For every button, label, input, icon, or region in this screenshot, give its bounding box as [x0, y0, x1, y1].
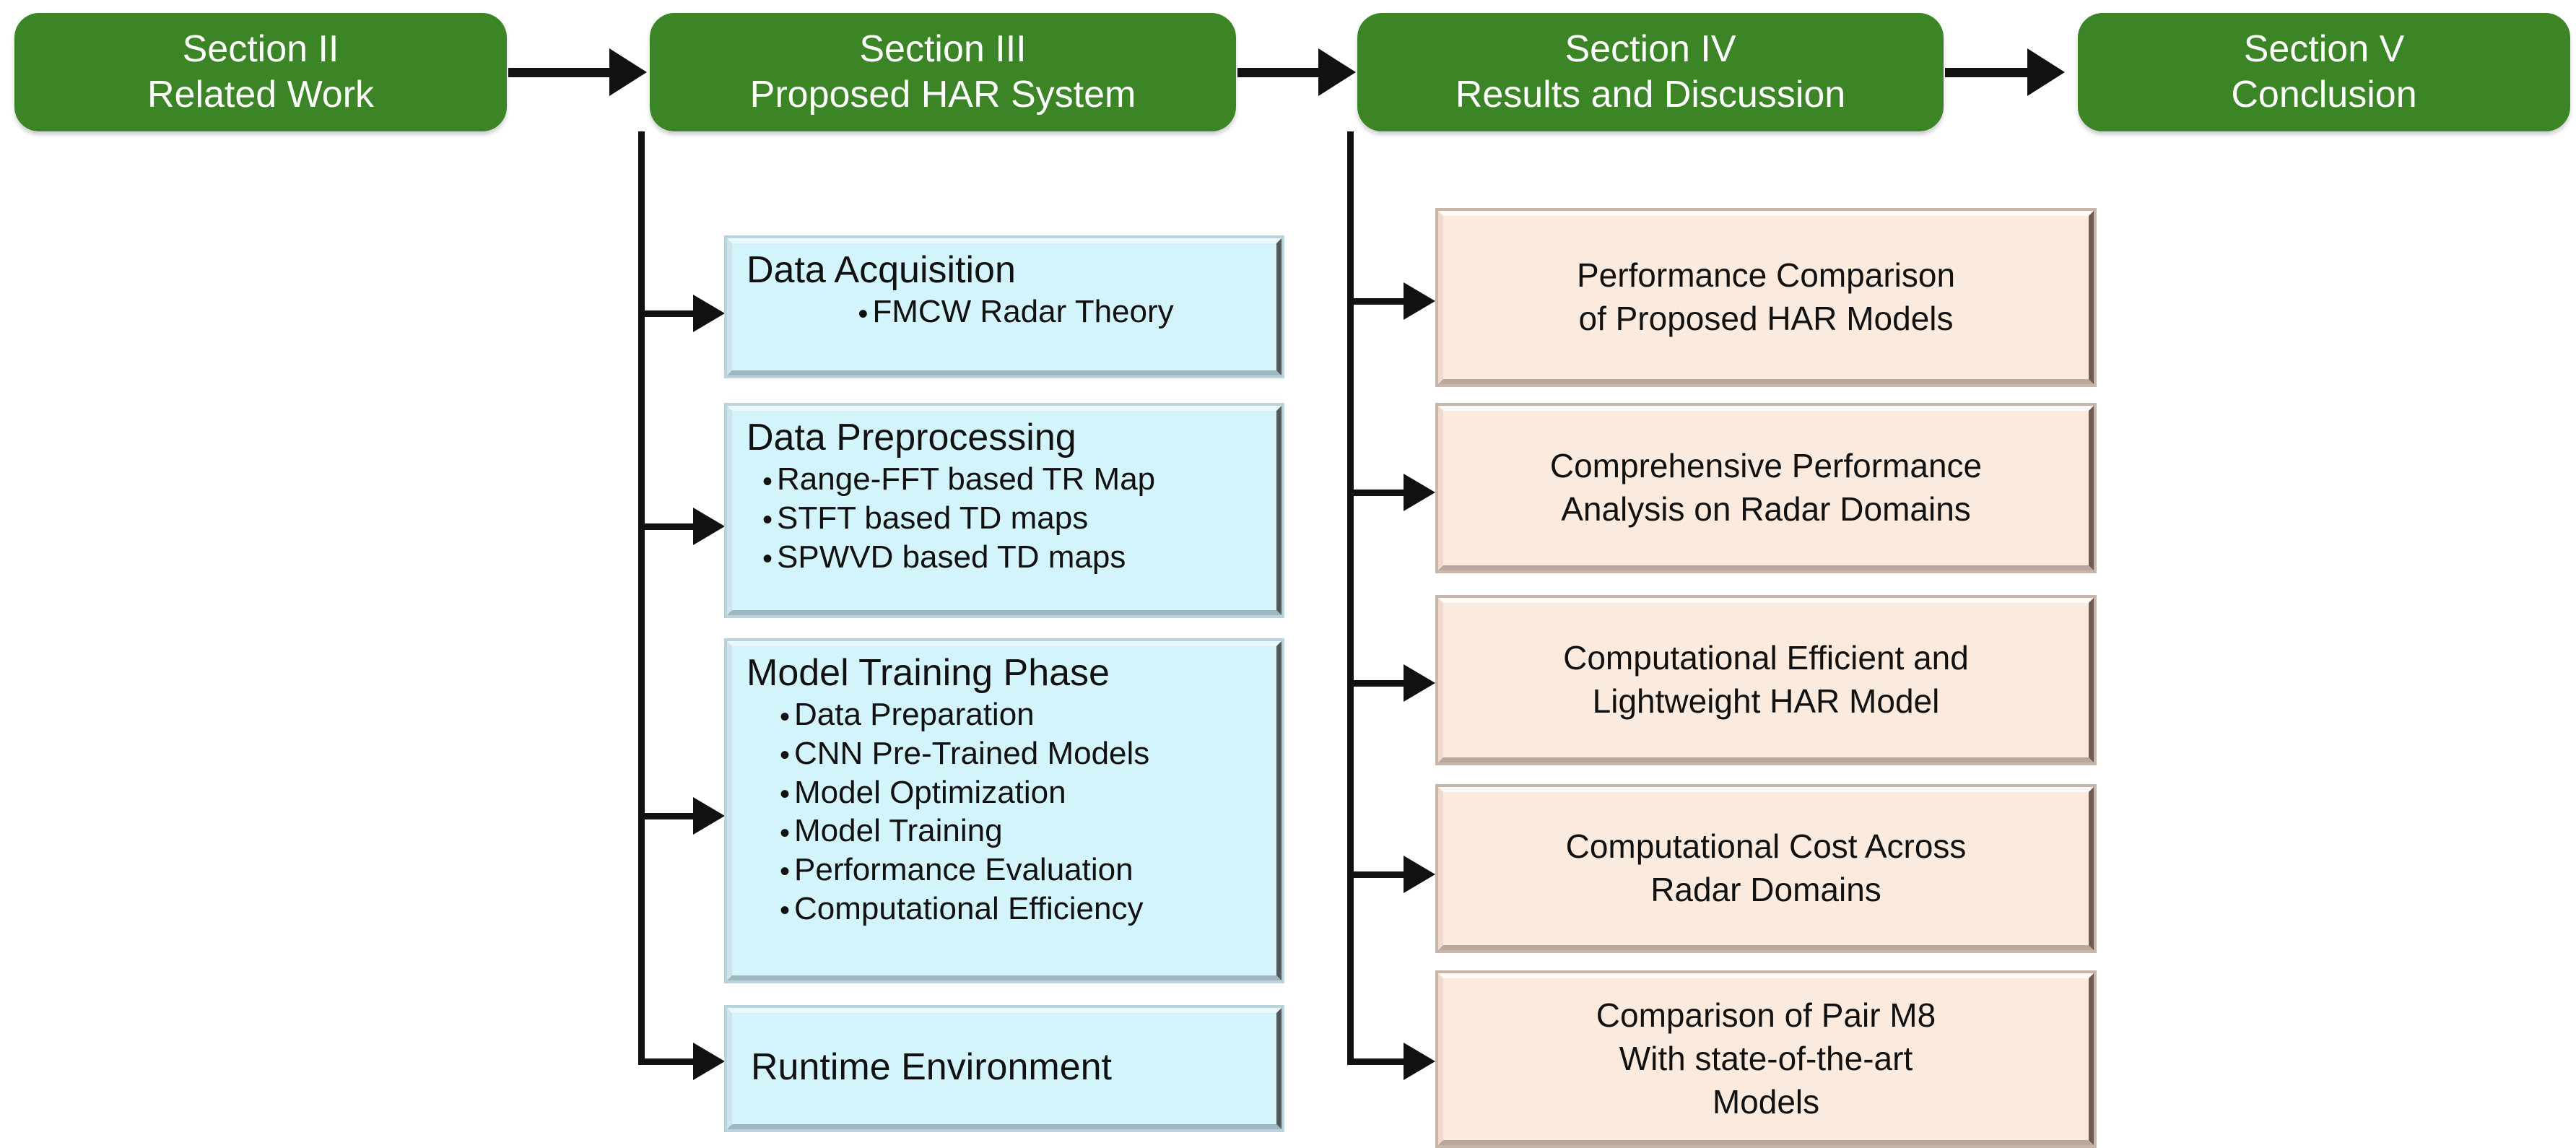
section-box-line2: Conclusion — [2231, 72, 2416, 118]
detail-box-data-acquisition[interactable]: Data Acquisition •FMCW Radar Theory — [727, 238, 1282, 375]
result-box-computational-cost[interactable]: Computational Cost Across Radar Domains — [1438, 787, 2094, 950]
result-box-line1: Computational Efficient and — [1563, 637, 1969, 680]
section-box-line1: Section IV — [1565, 27, 1736, 72]
list-item: •Performance Evaluation — [775, 851, 1276, 890]
detail-box-title: Runtime Environment — [732, 1046, 1112, 1088]
list-item: •FMCW Radar Theory — [751, 292, 1276, 331]
trunk-line-results — [1347, 131, 1354, 1063]
branch-arrow-computational-efficient-model — [1404, 664, 1435, 702]
list-item-label: CNN Pre-Trained Models — [794, 736, 1149, 771]
list-item-label: STFT based TD maps — [777, 500, 1088, 536]
detail-box-item-list: •Data Preparation •CNN Pre-Trained Model… — [732, 695, 1276, 928]
list-item: •SPWVD based TD maps — [758, 538, 1276, 577]
list-item: •Computational Efficiency — [775, 890, 1276, 929]
list-item-label: Computational Efficiency — [794, 891, 1143, 926]
section-box-line1: Section V — [2244, 27, 2405, 72]
result-box-computational-efficient-model[interactable]: Computational Efficient and Lightweight … — [1438, 598, 2094, 762]
arrow-section3-to-section4-head — [1318, 48, 1356, 96]
bullet-icon: • — [775, 703, 794, 731]
section-box-line2: Results and Discussion — [1455, 72, 1845, 118]
branch-arrow-comprehensive-analysis — [1404, 474, 1435, 511]
result-box-line2: Lightweight HAR Model — [1593, 680, 1940, 723]
list-item: •CNN Pre-Trained Models — [775, 734, 1276, 773]
bullet-icon: • — [775, 896, 794, 925]
bullet-icon: • — [853, 300, 872, 329]
section-box-results-and-discussion[interactable]: Section IV Results and Discussion — [1357, 13, 1944, 131]
section-box-related-work[interactable]: Section II Related Work — [14, 13, 507, 131]
section-box-line1: Section III — [859, 27, 1026, 72]
arrow-section2-to-section3-shaft — [508, 68, 617, 77]
list-item-label: Model Training — [794, 813, 1003, 848]
arrow-section4-to-section5-shaft — [1945, 68, 2040, 77]
result-box-line2: Radar Domains — [1650, 869, 1881, 912]
detail-box-title: Data Preprocessing — [732, 417, 1276, 458]
section-box-line2: Proposed HAR System — [750, 72, 1136, 118]
section-box-proposed-har-system[interactable]: Section III Proposed HAR System — [650, 13, 1236, 131]
branch-arrow-performance-comparison — [1404, 282, 1435, 320]
branch-arrow-pair-m8-comparison — [1404, 1043, 1435, 1080]
detail-box-model-training-phase[interactable]: Model Training Phase •Data Preparation •… — [727, 641, 1282, 980]
result-box-line1: Comprehensive Performance — [1550, 445, 1982, 488]
list-item: •Model Optimization — [775, 773, 1276, 812]
result-box-comprehensive-analysis[interactable]: Comprehensive Performance Analysis on Ra… — [1438, 406, 2094, 570]
list-item-label: Data Preparation — [794, 697, 1035, 732]
section-box-conclusion[interactable]: Section V Conclusion — [2078, 13, 2570, 131]
trunk-line-proposed-system — [638, 131, 645, 1063]
bullet-icon: • — [758, 467, 777, 496]
branch-arrow-model-training-phase — [693, 797, 725, 835]
bullet-icon: • — [775, 741, 794, 770]
branch-arrow-runtime-environment — [693, 1043, 725, 1080]
arrow-section4-to-section5-head — [2027, 48, 2065, 96]
section-box-line1: Section II — [183, 27, 339, 72]
list-item-label: Range-FFT based TR Map — [777, 461, 1155, 497]
bullet-icon: • — [775, 819, 794, 848]
list-item: •Data Preparation — [775, 695, 1276, 734]
arrow-section2-to-section3-head — [609, 48, 647, 96]
arrow-section3-to-section4-shaft — [1237, 68, 1331, 77]
result-box-performance-comparison[interactable]: Performance Comparison of Proposed HAR M… — [1438, 211, 2094, 384]
list-item-label: FMCW Radar Theory — [872, 294, 1173, 329]
result-box-line2: With state-of-the-art — [1619, 1038, 1913, 1081]
list-item: •Range-FFT based TR Map — [758, 460, 1276, 499]
branch-arrow-data-acquisition — [693, 295, 725, 332]
result-box-line1: Performance Comparison — [1577, 254, 1955, 297]
result-box-line2: of Proposed HAR Models — [1578, 297, 1953, 341]
list-item-label: Performance Evaluation — [794, 852, 1133, 887]
detail-box-item-list: •Range-FFT based TR Map •STFT based TD m… — [732, 460, 1276, 576]
detail-box-runtime-environment[interactable]: Runtime Environment — [727, 1008, 1282, 1129]
detail-box-title: Data Acquisition — [732, 249, 1276, 291]
list-item: •STFT based TD maps — [758, 499, 1276, 538]
detail-box-item-list: •FMCW Radar Theory — [732, 292, 1276, 331]
bullet-icon: • — [775, 780, 794, 809]
result-box-line2: Analysis on Radar Domains — [1561, 488, 1971, 531]
section-box-line2: Related Work — [147, 72, 374, 118]
detail-box-data-preprocessing[interactable]: Data Preprocessing •Range-FFT based TR M… — [727, 406, 1282, 615]
result-box-pair-m8-comparison[interactable]: Comparison of Pair M8 With state-of-the-… — [1438, 973, 2094, 1145]
result-box-line1: Comparison of Pair M8 — [1596, 994, 1936, 1038]
list-item: •Model Training — [775, 812, 1276, 851]
list-item-label: SPWVD based TD maps — [777, 539, 1126, 575]
result-box-line1: Computational Cost Across — [1566, 825, 1967, 869]
result-box-line3: Models — [1713, 1081, 1819, 1124]
list-item-label: Model Optimization — [794, 775, 1066, 810]
branch-arrow-data-preprocessing — [693, 508, 725, 545]
bullet-icon: • — [758, 544, 777, 573]
branch-arrow-computational-cost — [1404, 856, 1435, 893]
detail-box-title: Model Training Phase — [732, 652, 1276, 694]
bullet-icon: • — [758, 505, 777, 534]
flowchart-canvas: Section II Related Work Section III Prop… — [0, 0, 2576, 1148]
bullet-icon: • — [775, 857, 794, 886]
